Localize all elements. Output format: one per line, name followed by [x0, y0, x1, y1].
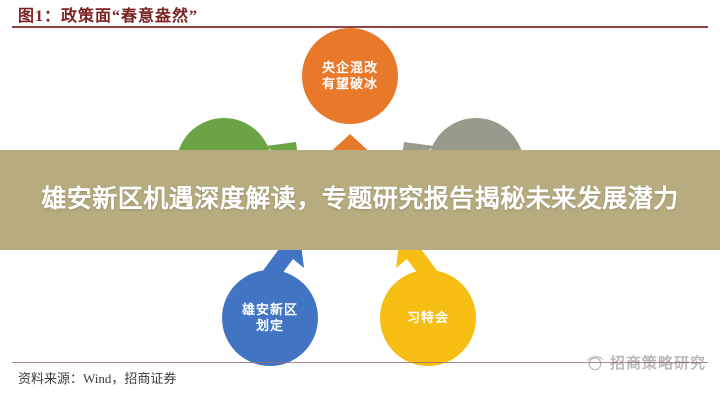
node-label-line-1: 雄安新区 [242, 302, 298, 318]
node-label-line-1: 习特会 [407, 310, 449, 326]
source-note: 资料来源：Wind，招商证券 [18, 368, 176, 387]
node-label-line-2: 划定 [256, 318, 284, 334]
headline-overlay-band: 雄安新区机遇深度解读，专题研究报告揭秘未来发展潜力 [0, 150, 720, 250]
slide-canvas: 图1：政策面“春意盎然” [0, 0, 720, 400]
watermark-label: 招商策略研究 [610, 352, 706, 373]
title-divider [12, 26, 708, 28]
diagram-node-xiongan-new-area[interactable]: 雄安新区 划定 [222, 270, 318, 366]
diagram-node-xi-trump-summit[interactable]: 习特会 [380, 270, 476, 366]
node-label-line-2: 有望破冰 [322, 76, 378, 92]
diagram-node-central-soe-reform[interactable]: 央企混改 有望破冰 [302, 28, 398, 124]
headline-text: 雄安新区机遇深度解读，专题研究报告揭秘未来发展潜力 [30, 183, 690, 217]
watermark: 招商策略研究 [585, 352, 706, 373]
node-label-line-1: 央企混改 [322, 60, 378, 76]
figure-title: 图1：政策面“春意盎然” [18, 2, 198, 26]
circle-swoosh-logo-icon [585, 353, 605, 373]
